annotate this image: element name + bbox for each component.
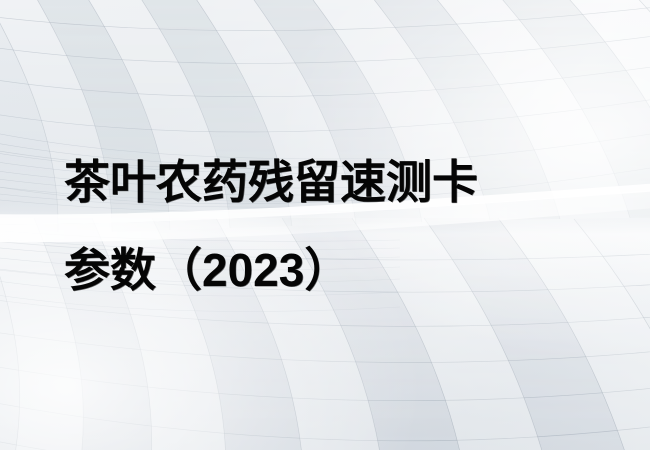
title-line-2: 参数（2023） <box>64 226 624 314</box>
title-banner: 茶叶农药残留速测卡 参数（2023） <box>0 0 650 450</box>
title-line-1: 茶叶农药残留速测卡 <box>64 138 624 226</box>
title-text-block: 茶叶农药残留速测卡 参数（2023） <box>64 138 624 314</box>
